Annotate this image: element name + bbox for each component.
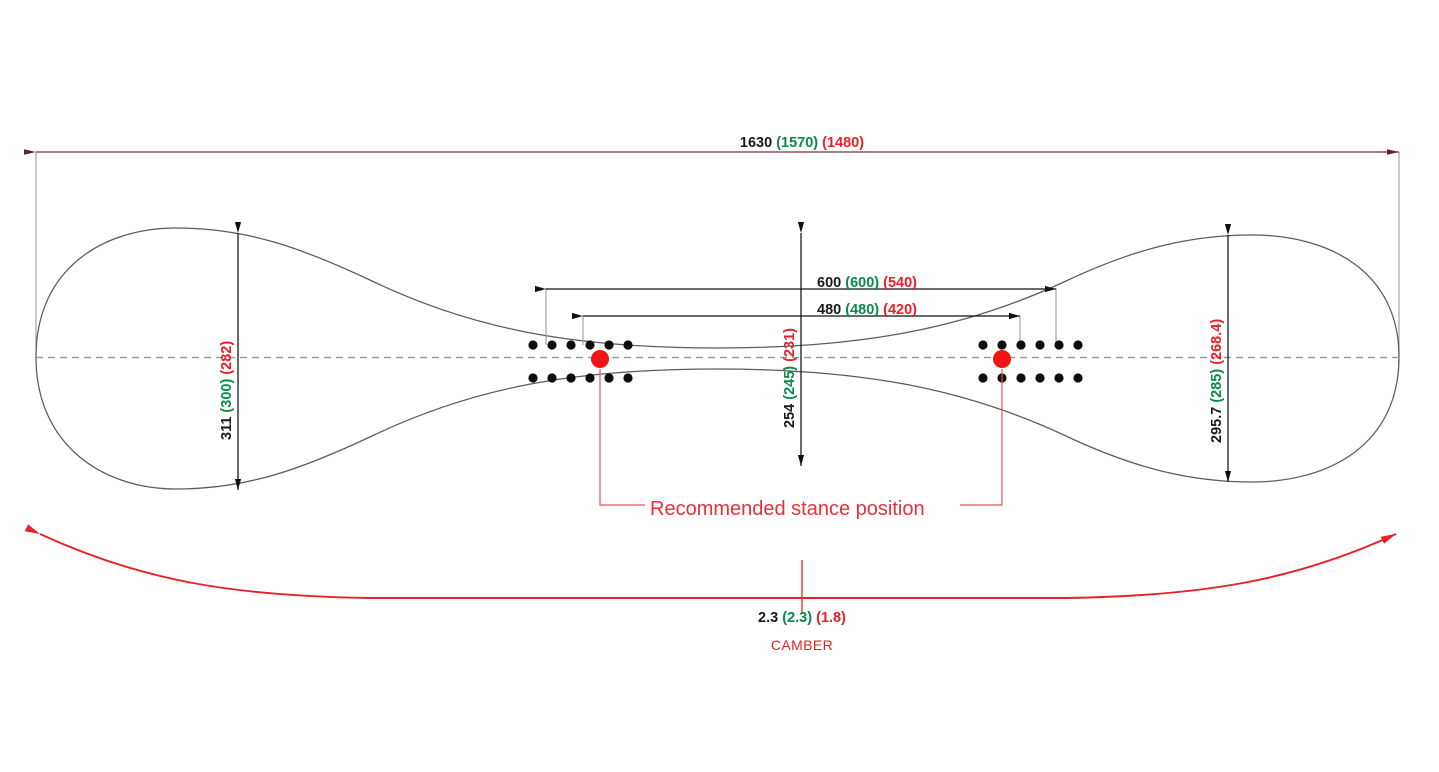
insert-hole [604, 340, 613, 349]
insert-hole [1054, 373, 1063, 382]
tail-width-dimension: 295.7 (285) (268.4) [1209, 235, 1228, 482]
stance-note-label: Recommended stance position [650, 498, 925, 520]
insert-hole [1073, 373, 1082, 382]
insert-hole [566, 340, 575, 349]
insert-hole [604, 373, 613, 382]
drawing-canvas: 311 (300) (282) 295.7 (285) (268.4) 254 … [0, 0, 1439, 772]
insert-hole-pattern [528, 340, 1082, 382]
insert-hole [1035, 373, 1044, 382]
stance-position-marker[interactable] [591, 350, 609, 368]
waist-width-dimension: 254 (245) (231) [782, 233, 801, 466]
insert-hole [528, 340, 537, 349]
insert-hole [585, 340, 594, 349]
nose-width-label: 311 (300) (282) [219, 341, 235, 440]
insert-hole [978, 373, 987, 382]
camber-title-label: CAMBER [771, 637, 833, 653]
overall-length-label: 1630 (1570) (1480) [740, 135, 864, 151]
insert-hole [547, 373, 556, 382]
snowboard-technical-drawing: 311 (300) (282) 295.7 (285) (268.4) 254 … [0, 0, 1439, 772]
insert-hole [547, 340, 556, 349]
insert-hole [997, 340, 1006, 349]
insert-hole [585, 373, 594, 382]
insert-hole [978, 340, 987, 349]
insert-hole [623, 340, 632, 349]
insert-hole [1035, 340, 1044, 349]
insert-hole [528, 373, 537, 382]
overall-length-dimension [36, 152, 1399, 360]
stance-leader-right [960, 369, 1002, 505]
nose-width-dimension: 311 (300) (282) [219, 233, 238, 490]
camber-curve [40, 534, 1396, 598]
camber-profile [40, 534, 1396, 614]
insert-hole [623, 373, 632, 382]
waist-width-label: 254 (245) (231) [782, 328, 798, 428]
stance-inner-label: 480 (480) (420) [817, 302, 917, 318]
stance-position-marker[interactable] [993, 350, 1011, 368]
insert-hole [1016, 373, 1025, 382]
tail-width-label: 295.7 (285) (268.4) [1209, 319, 1225, 443]
insert-hole [1054, 340, 1063, 349]
insert-hole [566, 373, 575, 382]
insert-hole [1016, 340, 1025, 349]
camber-value-label: 2.3 (2.3) (1.8) [758, 610, 846, 626]
board-outline [36, 228, 1399, 489]
stance-leader-left [600, 369, 645, 505]
stance-outer-label: 600 (600) (540) [817, 275, 917, 291]
board-profile-path [36, 228, 1399, 489]
insert-hole [1073, 340, 1082, 349]
